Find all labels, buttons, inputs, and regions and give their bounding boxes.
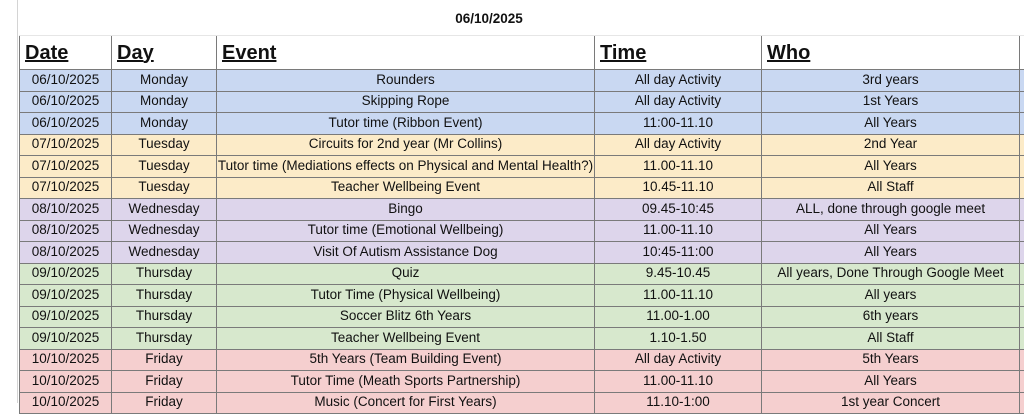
cell-day[interactable]: Thursday (112, 263, 217, 285)
cell-date[interactable]: 08/10/2025 (20, 199, 112, 221)
cell-event[interactable]: Teacher Wellbeing Event (217, 328, 595, 350)
cell-row-tail (1020, 113, 1024, 135)
table-row: 07/10/2025TuesdayCircuits for 2nd year (… (20, 134, 1024, 156)
cell-who[interactable]: 1st Years (762, 91, 1020, 113)
cell-event[interactable]: Soccer Blitz 6th Years (217, 306, 595, 328)
cell-who[interactable]: 3rd years (762, 70, 1020, 92)
cell-day[interactable]: Tuesday (112, 134, 217, 156)
cell-event[interactable]: 5th Years (Team Building Event) (217, 349, 595, 371)
title-blank-left2 (112, 3, 217, 36)
cell-time[interactable]: All day Activity (595, 349, 762, 371)
cell-date[interactable]: 06/10/2025 (20, 113, 112, 135)
cell-date[interactable]: 07/10/2025 (20, 177, 112, 199)
cell-who[interactable]: All Years (762, 242, 1020, 264)
cell-date[interactable]: 08/10/2025 (20, 242, 112, 264)
cell-event[interactable]: Skipping Rope (217, 91, 595, 113)
cell-who[interactable]: All Staff (762, 177, 1020, 199)
cell-row-tail (1020, 328, 1024, 350)
table-row: 10/10/2025Friday5th Years (Team Building… (20, 349, 1024, 371)
table-row: 08/10/2025WednesdayBingo09.45-10:45ALL, … (20, 199, 1024, 221)
cell-row-tail (1020, 220, 1024, 242)
cell-day[interactable]: Wednesday (112, 242, 217, 264)
cell-day[interactable]: Thursday (112, 306, 217, 328)
cell-row-tail (1020, 349, 1024, 371)
cell-time[interactable]: 11.00-11.10 (595, 285, 762, 307)
cell-row-tail (1020, 199, 1024, 221)
cell-day[interactable]: Friday (112, 371, 217, 393)
cell-who[interactable]: All Staff (762, 328, 1020, 350)
cell-date[interactable]: 07/10/2025 (20, 156, 112, 178)
cell-event[interactable]: Tutor time (Ribbon Event) (217, 113, 595, 135)
cell-time[interactable]: 11:00-11.10 (595, 113, 762, 135)
cell-date[interactable]: 10/10/2025 (20, 349, 112, 371)
page-title: 06/10/2025 (217, 3, 762, 36)
table-row: 08/10/2025WednesdayVisit Of Autism Assis… (20, 242, 1024, 264)
cell-who[interactable]: 6th years (762, 306, 1020, 328)
table-row: 09/10/2025ThursdaySoccer Blitz 6th Years… (20, 306, 1024, 328)
table-row: 09/10/2025ThursdayQuiz9.45-10.45All year… (20, 263, 1024, 285)
cell-row-tail (1020, 242, 1024, 264)
table-row: 10/10/2025FridayTutor Time (Meath Sports… (20, 371, 1024, 393)
right-margin-mark: . (1020, 36, 1024, 70)
cell-event[interactable]: Tutor time (Emotional Wellbeing) (217, 220, 595, 242)
cell-time[interactable]: 11.00-11.10 (595, 371, 762, 393)
title-blank-left (20, 3, 112, 36)
cell-time[interactable]: All day Activity (595, 134, 762, 156)
cell-event[interactable]: Tutor time (Mediations effects on Physic… (217, 156, 595, 178)
cell-event[interactable]: Quiz (217, 263, 595, 285)
cell-day[interactable]: Wednesday (112, 199, 217, 221)
cell-time[interactable]: 9.45-10.45 (595, 263, 762, 285)
cell-day[interactable]: Monday (112, 70, 217, 92)
cell-time[interactable]: 11.00-11.10 (595, 220, 762, 242)
column-header-who[interactable]: Who (762, 36, 1020, 70)
cell-who[interactable]: All Years (762, 371, 1020, 393)
cell-date[interactable]: 07/10/2025 (20, 134, 112, 156)
table-row: 08/10/2025WednesdayTutor time (Emotional… (20, 220, 1024, 242)
column-header-date[interactable]: Date (20, 36, 112, 70)
cell-who[interactable]: ALL, done through google meet (762, 199, 1020, 221)
cell-who[interactable]: 2nd Year (762, 134, 1020, 156)
cell-date[interactable]: 06/10/2025 (20, 91, 112, 113)
row-header-gutter (0, 0, 18, 403)
cell-day[interactable]: Friday (112, 349, 217, 371)
table-row: 06/10/2025MondaySkipping RopeAll day Act… (20, 91, 1024, 113)
cell-time[interactable]: 11.00-1.00 (595, 306, 762, 328)
cell-event[interactable]: Visit Of Autism Assistance Dog (217, 242, 595, 264)
cell-date[interactable]: 09/10/2025 (20, 263, 112, 285)
cell-who[interactable]: All Years (762, 113, 1020, 135)
cell-date[interactable]: 09/10/2025 (20, 306, 112, 328)
cell-day[interactable]: Wednesday (112, 220, 217, 242)
cell-time[interactable]: 09.45-10:45 (595, 199, 762, 221)
title-blank-tail (1020, 3, 1024, 36)
table-row: 06/10/2025MondayRoundersAll day Activity… (20, 70, 1024, 92)
cell-who[interactable]: All years (762, 285, 1020, 307)
cell-date[interactable]: 10/10/2025 (20, 371, 112, 393)
cell-day[interactable]: Monday (112, 91, 217, 113)
cell-date[interactable]: 09/10/2025 (20, 328, 112, 350)
cell-row-tail (1020, 70, 1024, 92)
cell-who[interactable]: 5th Years (762, 349, 1020, 371)
cell-time[interactable]: All day Activity (595, 91, 762, 113)
cell-row-tail (1020, 177, 1024, 199)
cell-date[interactable]: 08/10/2025 (20, 220, 112, 242)
cell-day[interactable]: Tuesday (112, 156, 217, 178)
cell-event[interactable]: Rounders (217, 70, 595, 92)
cell-row-tail (1020, 134, 1024, 156)
header-row: Date Day Event Time Who . (20, 36, 1024, 70)
cell-row-tail (1020, 156, 1024, 178)
table-body: 06/10/2025 Date Day Event Time Who . 06/… (20, 3, 1024, 414)
cell-row-tail (1020, 306, 1024, 328)
cell-row-tail (1020, 263, 1024, 285)
cell-time[interactable]: 10.45-11.10 (595, 177, 762, 199)
cell-row-tail (1020, 371, 1024, 393)
cell-event[interactable]: Tutor Time (Physical Wellbeing) (217, 285, 595, 307)
cell-time[interactable]: All day Activity (595, 70, 762, 92)
cell-event[interactable]: Tutor Time (Meath Sports Partnership) (217, 371, 595, 393)
cell-event[interactable]: Teacher Wellbeing Event (217, 177, 595, 199)
cell-day[interactable]: Thursday (112, 328, 217, 350)
cell-day[interactable]: Tuesday (112, 177, 217, 199)
cell-date[interactable]: 06/10/2025 (20, 70, 112, 92)
cell-time[interactable]: 10:45-11:00 (595, 242, 762, 264)
cell-event[interactable]: Bingo (217, 199, 595, 221)
column-header-day[interactable]: Day (112, 36, 217, 70)
table-row: 09/10/2025ThursdayTeacher Wellbeing Even… (20, 328, 1024, 350)
cell-event[interactable]: Circuits for 2nd year (Mr Collins) (217, 134, 595, 156)
column-header-event[interactable]: Event (217, 36, 595, 70)
table-row: 09/10/2025ThursdayTutor Time (Physical W… (20, 285, 1024, 307)
cell-time[interactable]: 1.10-1.50 (595, 328, 762, 350)
title-row: 06/10/2025 (20, 3, 1024, 36)
column-header-time[interactable]: Time (595, 36, 762, 70)
cell-day[interactable]: Thursday (112, 285, 217, 307)
cell-time[interactable]: 11.00-11.10 (595, 156, 762, 178)
table-row: 07/10/2025TuesdayTutor time (Mediations … (20, 156, 1024, 178)
table-row: 06/10/2025MondayTutor time (Ribbon Event… (20, 113, 1024, 135)
cell-row-tail (1020, 91, 1024, 113)
cell-who[interactable]: All Years (762, 220, 1020, 242)
cell-who[interactable]: All Years (762, 156, 1020, 178)
cell-date[interactable]: 09/10/2025 (20, 285, 112, 307)
cell-row-tail (1020, 285, 1024, 307)
cell-day[interactable]: Monday (112, 113, 217, 135)
cell-who[interactable]: All years, Done Through Google Meet (762, 263, 1020, 285)
table-row: 07/10/2025TuesdayTeacher Wellbeing Event… (20, 177, 1024, 199)
events-table: 06/10/2025 Date Day Event Time Who . 06/… (19, 3, 1024, 414)
title-blank-right (762, 3, 1020, 36)
spreadsheet-sheet: 06/10/2025 Date Day Event Time Who . 06/… (0, 0, 1024, 403)
